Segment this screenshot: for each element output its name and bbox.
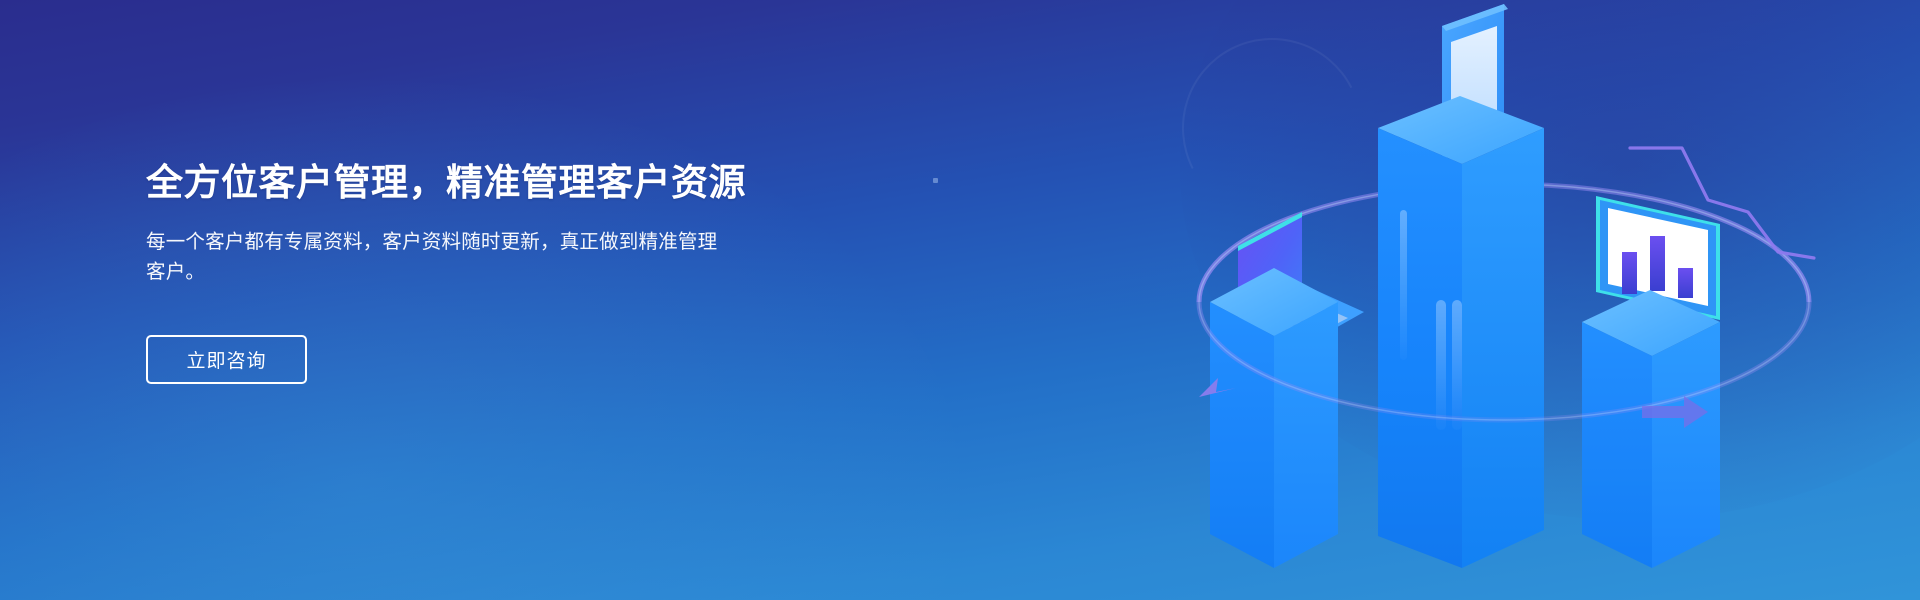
right-pillar-side <box>1652 322 1720 568</box>
consult-now-button[interactable]: 立即咨询 <box>146 335 307 384</box>
background-arc-decoration <box>1159 15 1386 242</box>
arrow-down-left-icon <box>1199 378 1236 397</box>
sparkle-dot-icon <box>933 178 938 183</box>
orbit-ring-front <box>1199 184 1809 420</box>
laptop-icon <box>1238 212 1364 348</box>
background-glow-right <box>1180 0 1920 520</box>
right-pillar-group <box>1582 196 1720 568</box>
right-pillar-front <box>1582 322 1652 568</box>
center-pillar-group <box>1378 4 1544 568</box>
left-pillar-side <box>1274 302 1338 568</box>
hero-copy-block: 全方位客户管理，精准管理客户资源 每一个客户都有专属资料，客户资料随时更新，真正… <box>146 160 786 384</box>
monitor-icon <box>1596 196 1720 332</box>
orbit-ring-back <box>1199 184 1809 420</box>
center-pillar-side <box>1462 128 1544 568</box>
left-pillar-top <box>1210 268 1338 336</box>
tablet-icon <box>1442 4 1508 160</box>
left-pillar-group <box>1210 212 1364 568</box>
hero-banner: 全方位客户管理，精准管理客户资源 每一个客户都有专属资料，客户资料随时更新，真正… <box>0 0 1920 600</box>
arrow-right-icon <box>1642 396 1708 428</box>
center-pillar-front <box>1378 128 1462 568</box>
right-pillar-top <box>1582 290 1720 356</box>
page-title: 全方位客户管理，精准管理客户资源 <box>146 160 786 206</box>
left-pillar-front <box>1210 302 1274 568</box>
center-pillar-top <box>1378 96 1544 164</box>
monitor-bar-chart <box>1622 236 1693 298</box>
hero-subtitle: 每一个客户都有专属资料，客户资料随时更新，真正做到精准管理客户。 <box>146 228 731 287</box>
trend-line <box>1630 148 1814 258</box>
hero-illustration <box>1152 0 1872 600</box>
